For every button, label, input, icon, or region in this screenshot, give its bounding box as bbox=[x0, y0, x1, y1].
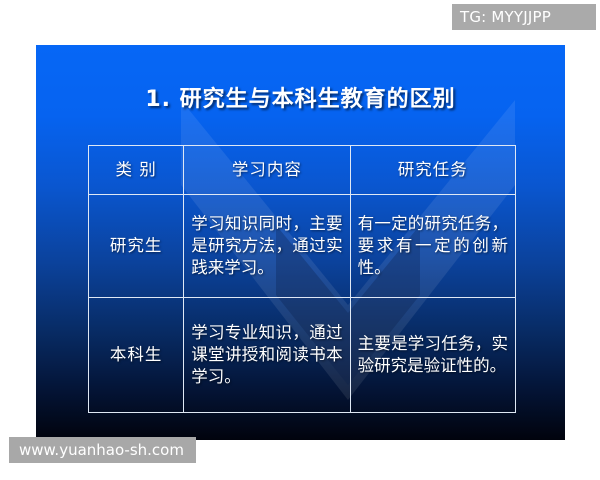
row-study-content-undergraduate: 学习专业知识，通过课堂讲授和阅读书本学习。 bbox=[184, 298, 350, 413]
row-research-task-undergraduate: 主要是学习任务，实验研究是验证性的。 bbox=[350, 298, 515, 413]
row-category-undergraduate: 本科生 bbox=[89, 298, 184, 413]
table-row: 本科生 学习专业知识，通过课堂讲授和阅读书本学习。 主要是学习任务，实验研究是验… bbox=[89, 298, 516, 413]
column-header-category: 类 别 bbox=[89, 146, 184, 195]
page-title: 1. 研究生与本科生教育的区别 bbox=[36, 81, 565, 113]
column-header-research-task: 研究任务 bbox=[350, 146, 515, 195]
table-row: 研究生 学习知识同时，主要是研究方法，通过实践来学习。 有一定的研究任务，要求有… bbox=[89, 195, 516, 298]
row-category-graduate: 研究生 bbox=[89, 195, 184, 298]
table-header-row: 类 别 学习内容 研究任务 bbox=[89, 146, 516, 195]
channel-watermark: TG: MYYJJPP bbox=[452, 4, 596, 30]
column-header-study-content: 学习内容 bbox=[184, 146, 350, 195]
row-research-task-graduate: 有一定的研究任务，要求有一定的创新性。 bbox=[350, 195, 515, 298]
row-study-content-graduate: 学习知识同时，主要是研究方法，通过实践来学习。 bbox=[184, 195, 350, 298]
site-watermark: www.yuanhao-sh.com bbox=[9, 437, 196, 463]
comparison-table: 类 别 学习内容 研究任务 研究生 学习知识同时，主要是研究方法，通过实践来学习… bbox=[88, 145, 516, 413]
presentation-slide: 1. 研究生与本科生教育的区别 类 别 学习内容 研究任务 研究生 学习知识同时… bbox=[36, 45, 565, 440]
